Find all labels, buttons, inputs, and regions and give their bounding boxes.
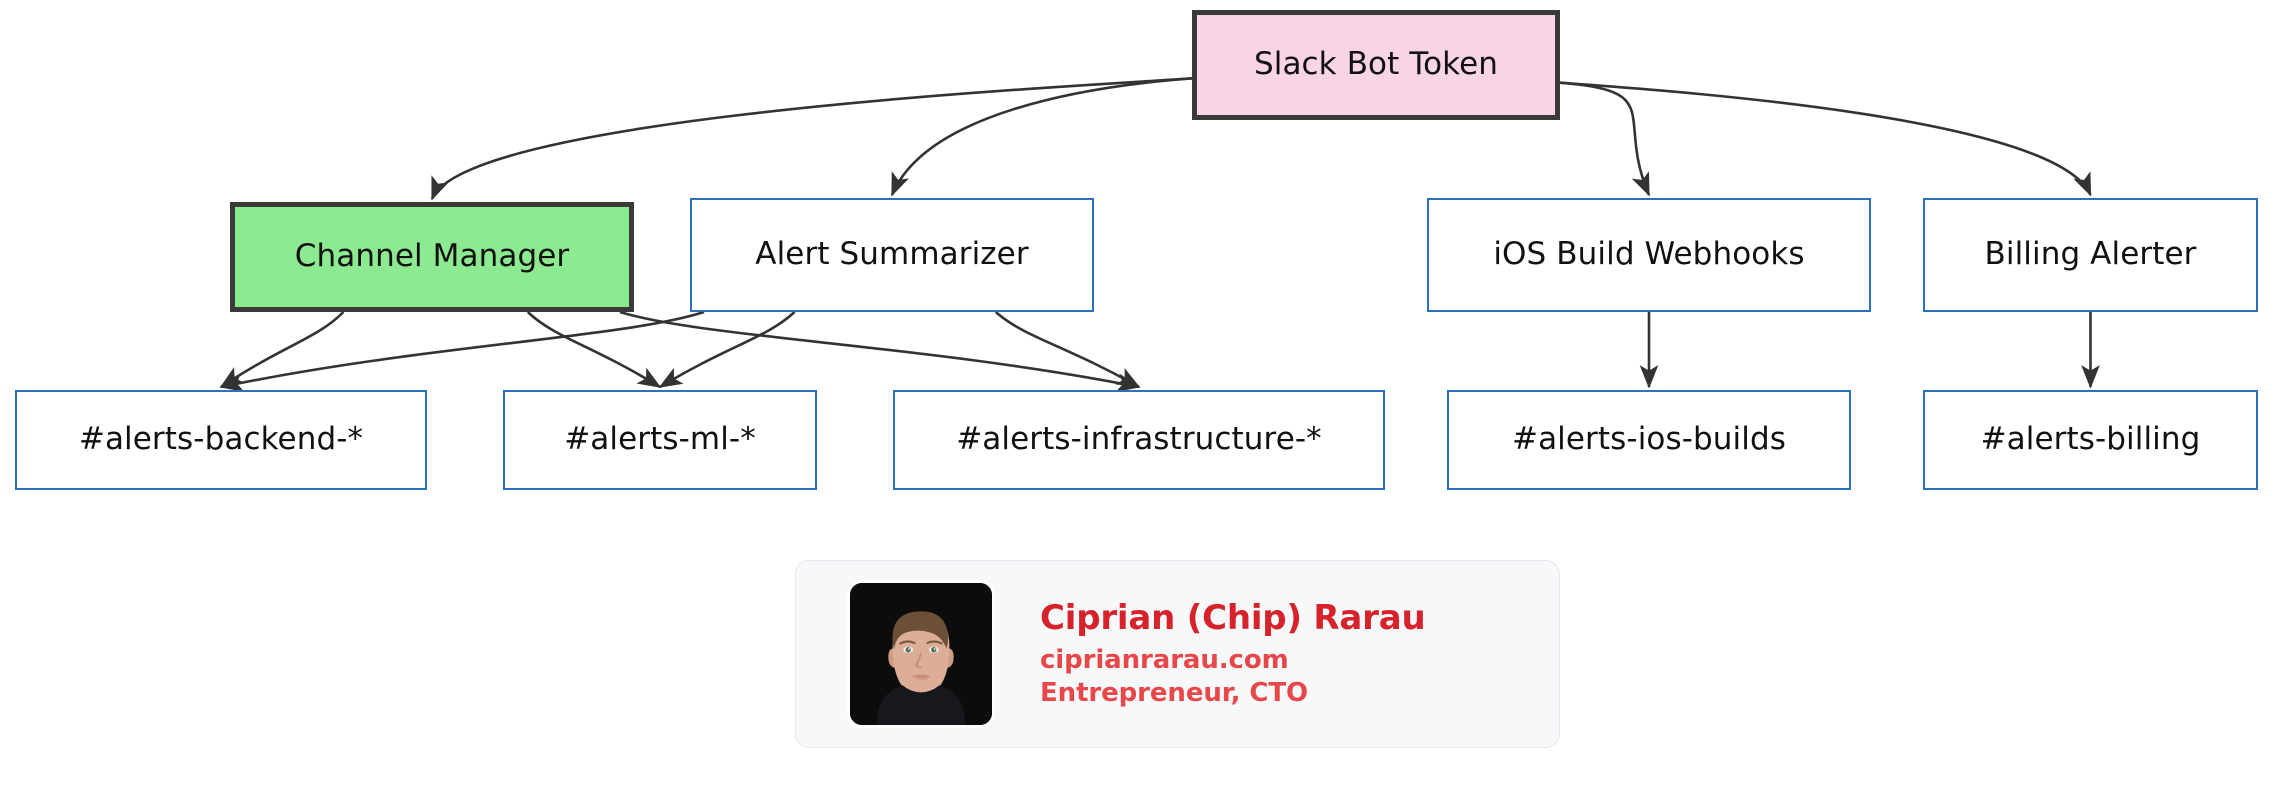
profile-card: Ciprian (Chip) Rarau ciprianrarau.com En… bbox=[795, 560, 1560, 748]
node-alerts-billing[interactable]: #alerts-billing bbox=[1923, 390, 2258, 490]
edge-alert-summarizer-to-alerts-infra bbox=[996, 312, 1139, 387]
node-label: Channel Manager bbox=[295, 238, 570, 275]
node-ios-build-webhooks[interactable]: iOS Build Webhooks bbox=[1427, 198, 1871, 312]
node-label: #alerts-ios-builds bbox=[1512, 421, 1786, 458]
node-label: #alerts-backend-* bbox=[79, 421, 363, 458]
node-label: #alerts-infrastructure-* bbox=[956, 421, 1322, 458]
node-label: Billing Alerter bbox=[1984, 236, 2196, 273]
diagram-canvas: Slack Bot TokenChannel ManagerAlert Summ… bbox=[0, 0, 2294, 788]
node-label: #alerts-billing bbox=[1981, 421, 2201, 458]
edge-slack-bot-token-to-alert-summarizer bbox=[892, 78, 1194, 195]
node-alerts-backend[interactable]: #alerts-backend-* bbox=[15, 390, 427, 490]
edge-slack-bot-token-to-channel-manager bbox=[432, 78, 1194, 199]
profile-website: ciprianrarau.com bbox=[1040, 644, 1425, 677]
edge-alert-summarizer-to-alerts-ml bbox=[660, 312, 795, 387]
profile-name: Ciprian (Chip) Rarau bbox=[1040, 598, 1425, 638]
edge-slack-bot-token-to-ios-build-webhooks bbox=[1558, 83, 1649, 195]
node-alerts-infra[interactable]: #alerts-infrastructure-* bbox=[893, 390, 1385, 490]
node-slack-bot-token[interactable]: Slack Bot Token bbox=[1192, 10, 1560, 120]
profile-role: Entrepreneur, CTO bbox=[1040, 677, 1425, 710]
edge-channel-manager-to-alerts-infra bbox=[620, 312, 1139, 387]
node-channel-manager[interactable]: Channel Manager bbox=[230, 202, 634, 312]
node-label: Slack Bot Token bbox=[1254, 46, 1498, 83]
node-label: Alert Summarizer bbox=[755, 236, 1028, 273]
profile-card-text: Ciprian (Chip) Rarau ciprianrarau.com En… bbox=[1040, 598, 1425, 711]
node-alerts-ml[interactable]: #alerts-ml-* bbox=[503, 390, 817, 490]
node-label: iOS Build Webhooks bbox=[1493, 236, 1804, 273]
edge-alert-summarizer-to-alerts-backend bbox=[221, 312, 704, 387]
node-label: #alerts-ml-* bbox=[564, 421, 756, 458]
node-alerts-ios-builds[interactable]: #alerts-ios-builds bbox=[1447, 390, 1851, 490]
node-alert-summarizer[interactable]: Alert Summarizer bbox=[690, 198, 1094, 312]
edge-slack-bot-token-to-billing-alerter bbox=[1558, 83, 2091, 195]
node-billing-alerter[interactable]: Billing Alerter bbox=[1923, 198, 2258, 312]
edge-channel-manager-to-alerts-ml bbox=[528, 312, 660, 387]
avatar bbox=[850, 583, 992, 725]
edge-channel-manager-to-alerts-backend bbox=[221, 312, 343, 387]
